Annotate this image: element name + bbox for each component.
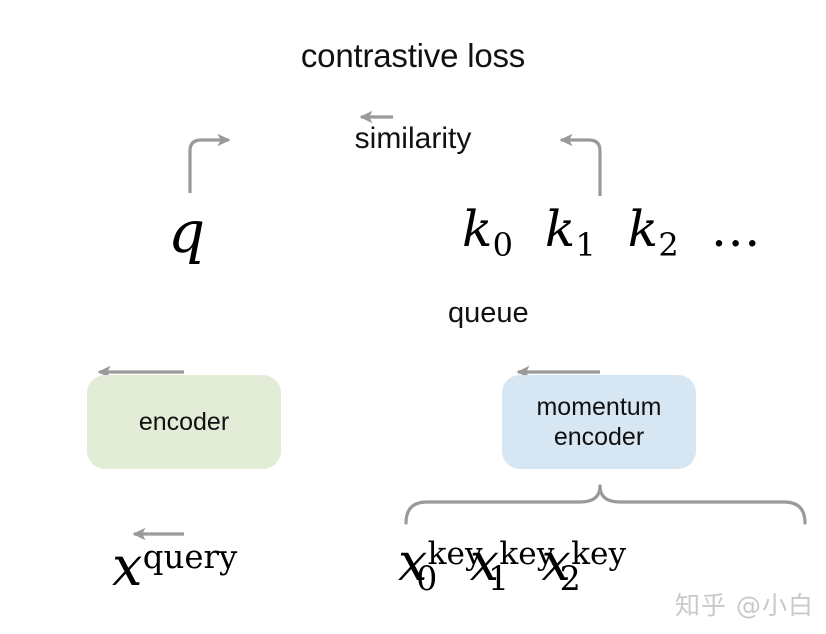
encoder-box[interactable]: encoder [87, 375, 281, 469]
key-inputs-row: xkey0 xkey1 xkey2 [398, 533, 597, 598]
contrastive-loss-label: contrastive loss [0, 38, 826, 75]
momentum-encoder-line1: momentum [536, 393, 661, 421]
query-input-symbol: xquery [112, 535, 237, 598]
key-representation-0: k0 [462, 200, 513, 258]
q-glyph: q [168, 198, 205, 266]
key-input-1: xkey1 [470, 533, 509, 593]
xquery-base: x [112, 535, 142, 598]
key-input-2: xkey2 [542, 533, 581, 593]
query-representation-symbol: q [168, 198, 205, 266]
watermark: 知乎 @小白 [675, 586, 814, 622]
queue-label: queue [448, 297, 529, 329]
key-representations-row: k0 k1 k2 … [462, 200, 763, 264]
key-representation-2: k2 [628, 200, 679, 258]
k0-base: k [462, 200, 492, 258]
k2-base: k [628, 200, 658, 258]
k0-subscript: 0 [493, 226, 513, 264]
momentum-encoder-box[interactable]: momentum encoder [502, 375, 696, 469]
k1-subscript: 1 [576, 226, 596, 264]
xkey1-subscript: 1 [488, 559, 509, 598]
momentum-encoder-box-label: momentum encoder [536, 392, 661, 453]
key-input-0: xkey0 [398, 533, 437, 593]
k2-subscript: 2 [658, 226, 678, 264]
key-representation-1: k1 [545, 200, 596, 258]
similarity-label: similarity [0, 122, 826, 156]
k1-base: k [545, 200, 575, 258]
xquery-superscript: query [143, 538, 238, 576]
figure-canvas: contrastive loss similarity q k0 k1 k2 …… [0, 0, 826, 634]
xkey0-subscript: 0 [416, 559, 437, 598]
key-representations-ellipsis: … [711, 200, 763, 258]
xkey2-subscript: 2 [560, 559, 581, 598]
encoder-box-label: encoder [139, 407, 229, 438]
momentum-encoder-line2: encoder [554, 423, 644, 451]
brace-key-inputs [406, 486, 805, 523]
